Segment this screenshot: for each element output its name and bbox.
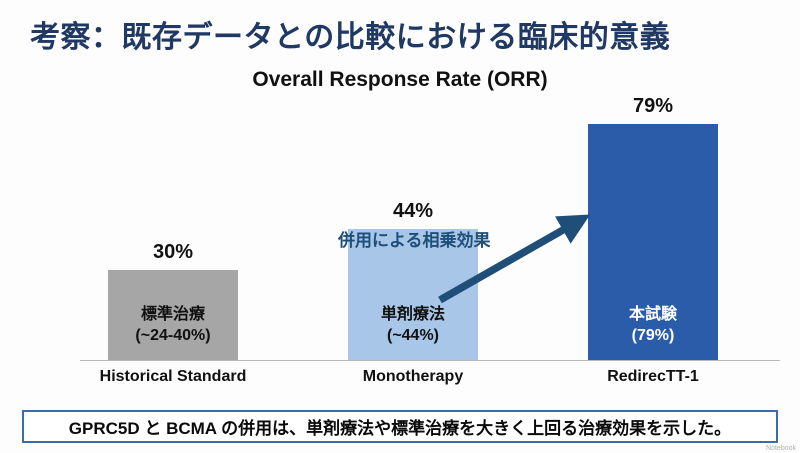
- chart-title: Overall Response Rate (ORR): [0, 68, 800, 92]
- bar-inner-line1: 単剤療法: [381, 306, 445, 323]
- annotation-label: 併用による相乗効果: [338, 226, 491, 251]
- bar-inner-label: 単剤療法 (~44%): [348, 304, 478, 346]
- chart-baseline: [80, 360, 780, 361]
- bar-chart: 30% 標準治療 (~24-40%) Historical Standard 4…: [0, 90, 800, 395]
- bar-inner-line2: (~44%): [348, 325, 478, 346]
- bar-value-label: 79%: [568, 95, 738, 118]
- category-label-historical-standard: Historical Standard: [58, 368, 288, 386]
- summary-caption-text: GPRC5D と BCMA の併用は、単剤療法や標準治療を大きく上回る治療効果を…: [69, 414, 731, 439]
- watermark-label: Notebook: [766, 445, 796, 452]
- bar-inner-line2: (79%): [588, 325, 718, 346]
- bar-value-label: 44%: [328, 200, 498, 223]
- category-label-redirectt-1: RedirecTT-1: [538, 368, 768, 386]
- bar-value-label: 30%: [88, 241, 258, 264]
- category-label-monotherapy: Monotherapy: [298, 368, 528, 386]
- summary-caption-box: GPRC5D と BCMA の併用は、単剤療法や標準治療を大きく上回る治療効果を…: [22, 410, 778, 443]
- bar-inner-label: 本試験 (79%): [588, 304, 718, 346]
- page-title: 考察：既存データとの比較における臨床的意義: [30, 12, 770, 56]
- bar-inner-line1: 本試験: [629, 306, 677, 323]
- bar-inner-label: 標準治療 (~24-40%): [108, 304, 238, 346]
- bar-inner-line1: 標準治療: [141, 306, 205, 323]
- bar-historical-standard: 標準治療 (~24-40%): [108, 270, 238, 360]
- bar-redirectt-1: 本試験 (79%): [588, 124, 718, 360]
- bar-inner-line2: (~24-40%): [108, 325, 238, 346]
